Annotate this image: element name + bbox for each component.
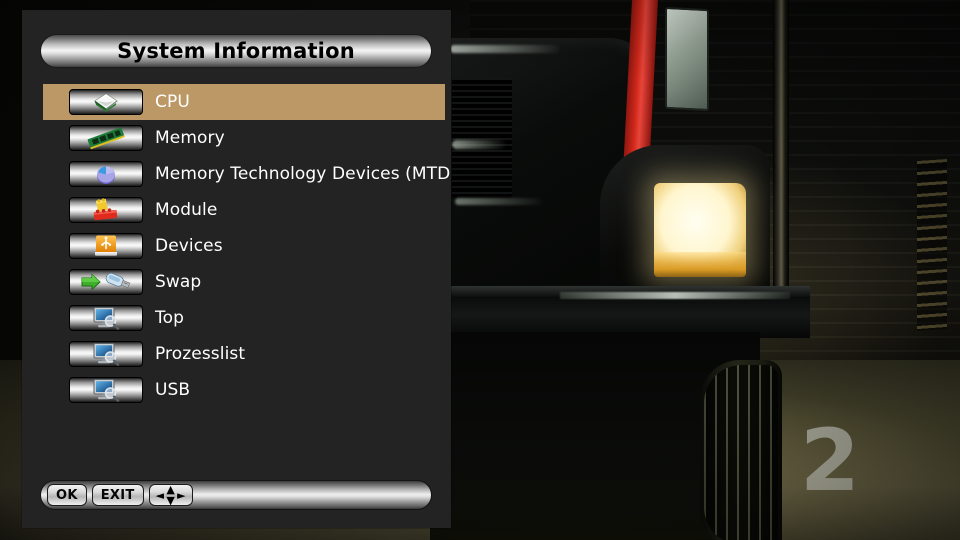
menu-item-top[interactable]: Top (43, 300, 445, 336)
arrow-right-icon: ► (177, 490, 186, 501)
system-information-menu: CPUMemoryMemory Technology Devices (MTDM… (43, 84, 445, 408)
menu-item-memory[interactable]: Memory (43, 120, 445, 156)
menu-item-label: Devices (155, 236, 223, 256)
dpad-navigation-button[interactable]: ◄ ▲ ▼ ► (149, 484, 193, 506)
ok-button[interactable]: OK (47, 484, 87, 506)
hood-highlight (455, 198, 545, 205)
menu-item-label: Memory Technology Devices (MTD (155, 164, 450, 184)
door-frame-post (773, 0, 789, 300)
menu-item-label: Prozesslist (155, 344, 245, 364)
usb-device-box-icon (70, 234, 142, 258)
truck-grille (452, 78, 512, 198)
menu-item-memory-technology-devices-mtd[interactable]: Memory Technology Devices (MTD (43, 156, 445, 192)
menu-item-icon-tile (69, 269, 143, 295)
monitor-search-icon (70, 342, 142, 366)
menu-item-icon-tile (69, 305, 143, 331)
swap-usb-drive-icon (70, 270, 142, 294)
pie-chart-icon (70, 162, 142, 186)
menu-item-label: CPU (155, 92, 190, 112)
lego-blocks-icon (70, 198, 142, 222)
truck-tire-tread (704, 365, 778, 540)
menu-item-label: Memory (155, 128, 225, 148)
background-ladder (917, 159, 947, 331)
menu-item-label: Swap (155, 272, 201, 292)
hood-highlight (450, 45, 560, 53)
dpad-arrows-icon: ◄ ▲ ▼ ► (156, 484, 186, 506)
menu-item-icon-tile (69, 89, 143, 115)
tv-screen: 2 System Information CPUMemoryMemory Tec… (0, 0, 960, 540)
cpu-chip-icon (70, 90, 142, 114)
channel-number-watermark: 2 (800, 418, 858, 504)
menu-item-icon-tile (69, 197, 143, 223)
bottom-button-bar: OK EXIT ◄ ▲ ▼ ► (40, 480, 432, 510)
menu-item-cpu[interactable]: CPU (43, 84, 445, 120)
monitor-search-icon (70, 306, 142, 330)
menu-item-label: USB (155, 380, 190, 400)
menu-item-icon-tile (69, 161, 143, 187)
bumper-highlight (560, 292, 790, 299)
menu-item-devices[interactable]: Devices (43, 228, 445, 264)
monitor-search-icon (70, 378, 142, 402)
arrow-updown-icon: ▲ ▼ (166, 484, 175, 506)
hood-highlight (452, 140, 507, 149)
menu-item-module[interactable]: Module (43, 192, 445, 228)
menu-item-label: Top (155, 308, 184, 328)
ram-stick-icon (70, 126, 142, 150)
menu-item-icon-tile (69, 125, 143, 151)
truck-turn-signal (654, 252, 746, 277)
truck-mirror-glass (665, 7, 709, 111)
menu-item-swap[interactable]: Swap (43, 264, 445, 300)
menu-item-icon-tile (69, 233, 143, 259)
menu-item-usb[interactable]: USB (43, 372, 445, 408)
menu-item-prozesslist[interactable]: Prozesslist (43, 336, 445, 372)
exit-button[interactable]: EXIT (92, 484, 144, 506)
page-title: System Information (117, 39, 355, 63)
menu-item-label: Module (155, 200, 217, 220)
system-information-panel: System Information CPUMemoryMemory Techn… (22, 10, 451, 528)
arrow-down-icon: ▼ (166, 495, 175, 506)
arrow-left-icon: ◄ (156, 490, 165, 501)
menu-item-icon-tile (69, 341, 143, 367)
menu-item-icon-tile (69, 377, 143, 403)
panel-titlebar: System Information (40, 34, 432, 68)
